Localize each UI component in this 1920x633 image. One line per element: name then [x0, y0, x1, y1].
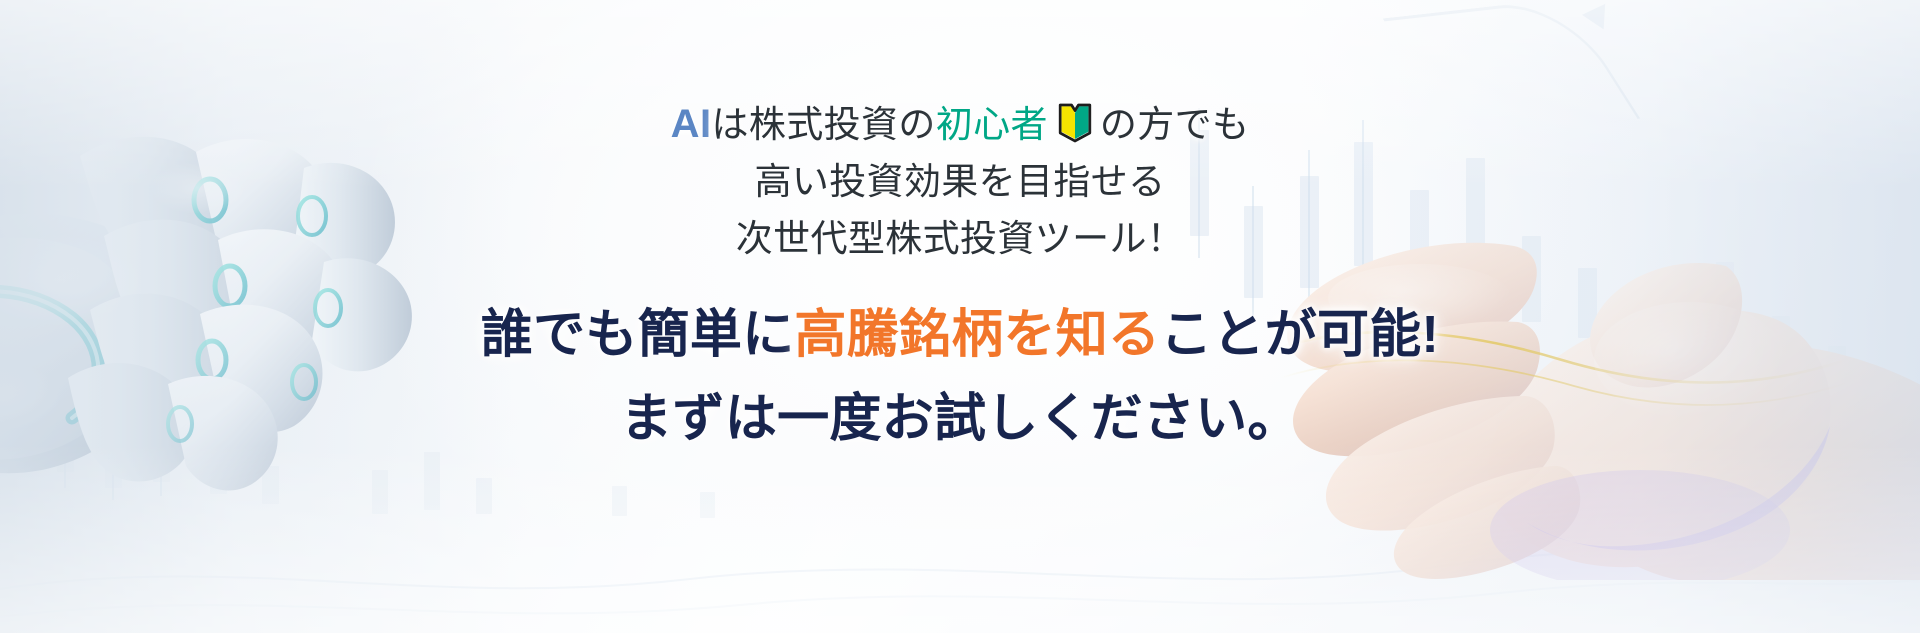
headline-highlight: 高騰銘柄を知る	[794, 306, 1160, 364]
hero-copy: AIは株式投資の初心者 の方でも 高い投資効果を目指せる 次世代型株式投資ツール…	[0, 0, 1920, 633]
subheading-line-1-mid: は株式投資の	[711, 104, 935, 145]
headline-line-2: まずは一度お試しください。	[620, 379, 1299, 459]
beginner-badge-icon	[1057, 102, 1093, 143]
subheading-line-3: 次世代型株式投資ツール！	[736, 210, 1184, 267]
subheading-line-1: AIは株式投資の初心者 の方でも	[671, 96, 1250, 153]
beginner-word: 初心者	[936, 104, 1048, 145]
headline-line-1: 誰でも簡単に高騰銘柄を知ることが可能!	[481, 295, 1439, 375]
ai-word: AI	[671, 102, 712, 146]
subheading-line-1-tail: の方でも	[1100, 104, 1249, 145]
headline-suffix: ことが可能!	[1160, 306, 1439, 364]
hero-banner: AIは株式投資の初心者 の方でも 高い投資効果を目指せる 次世代型株式投資ツール…	[0, 0, 1920, 633]
headline-prefix: 誰でも簡単に	[481, 306, 795, 364]
subheading-line-2: 高い投資効果を目指せる	[754, 153, 1165, 210]
